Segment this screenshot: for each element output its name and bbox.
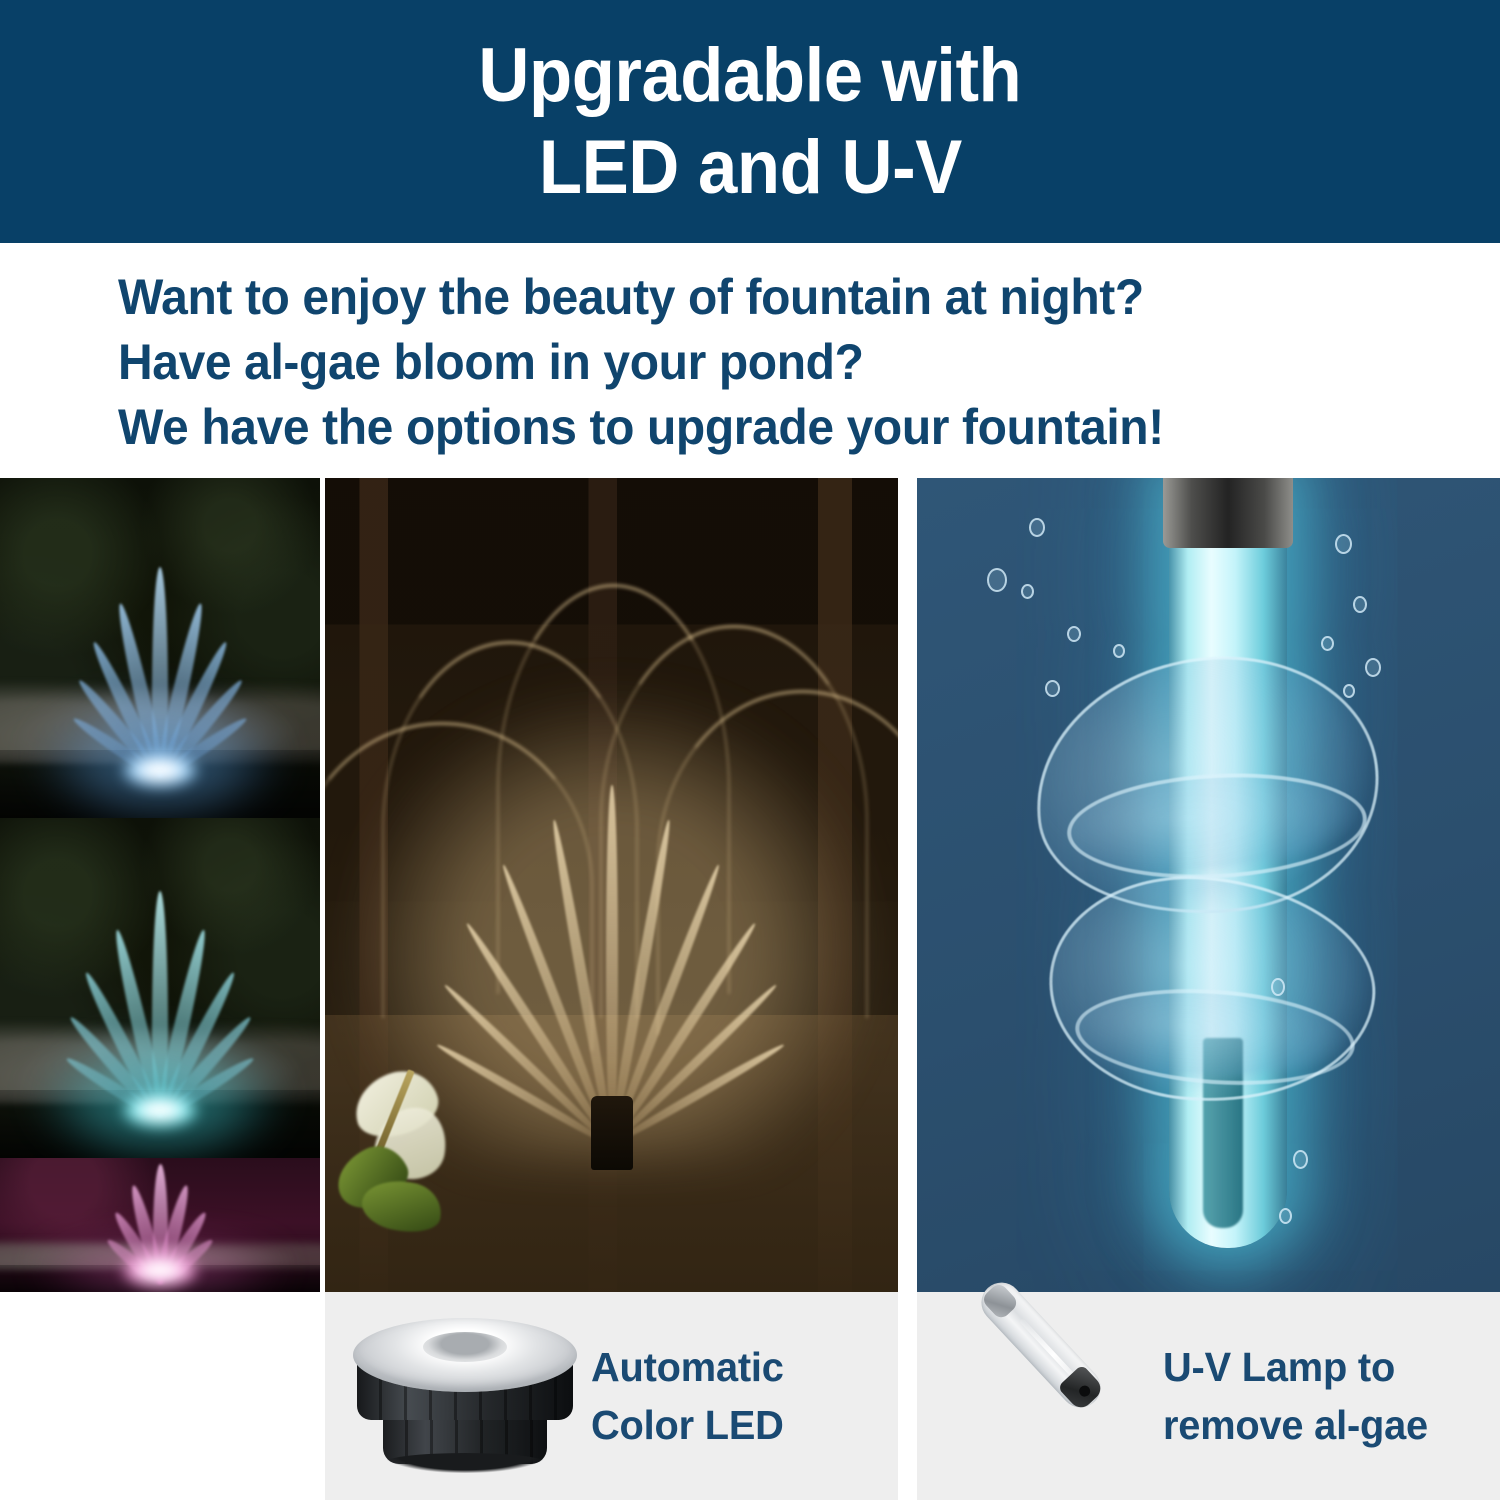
caption-text-led: Automatic Color LED (591, 1338, 784, 1454)
water-droplet (1365, 658, 1381, 677)
water-droplet (1321, 636, 1334, 651)
water-droplet (1293, 1150, 1308, 1169)
night-scene-blue (0, 478, 320, 818)
water-droplet (1067, 626, 1081, 642)
uv-tube-metal-cap (1163, 478, 1293, 548)
led-color-photo-column (0, 478, 320, 1292)
water-droplet (987, 568, 1007, 592)
subtitle-block: Want to enjoy the beauty of fountain at … (0, 243, 1500, 478)
caption-uv-lamp: U-V Lamp to remove al-gae (917, 1292, 1500, 1500)
caption-text-uv: U-V Lamp to remove al-gae (1163, 1338, 1428, 1454)
photo-warm-fountain (325, 478, 898, 1292)
photo-led-fountain-cyan (0, 818, 320, 1158)
subtitle-line-2: Have al-gae bloom in your pond? (118, 330, 1445, 395)
water-droplet (1021, 584, 1034, 599)
caption-automatic-color-led: Automatic Color LED (325, 1292, 898, 1500)
led-glow-pink (123, 1253, 197, 1287)
caption-row: Automatic Color LED U-V Lamp to remove a… (0, 1292, 1500, 1500)
led-center-ring (423, 1332, 507, 1362)
header-title-line-1: Upgradable with (479, 37, 1022, 115)
caption-uv-line-2: remove al-gae (1163, 1396, 1428, 1454)
water-droplet (1335, 534, 1352, 554)
water-droplet (1343, 684, 1355, 698)
caption-led-line-1: Automatic (591, 1338, 784, 1396)
water-droplet (1353, 596, 1367, 613)
photo-led-fountain-pink (0, 1158, 320, 1292)
caption-uv-line-1: U-V Lamp to (1163, 1338, 1428, 1396)
subtitle-line-3: We have the options to upgrade your foun… (118, 395, 1445, 460)
header-title-line-2: LED and U-V (539, 129, 962, 207)
led-puck-icon (325, 1312, 591, 1480)
water-droplet (1113, 644, 1125, 658)
night-scene-cyan (0, 818, 320, 1158)
night-scene-pink (0, 1158, 320, 1292)
caption-led-line-2: Color LED (591, 1396, 784, 1454)
uv-lamp-wand-icon (917, 1303, 1163, 1489)
photo-led-fountain-blue (0, 478, 320, 818)
fountain-nozzle (591, 1096, 633, 1170)
water-droplet (1271, 978, 1285, 996)
water-droplet (1279, 1208, 1292, 1224)
photo-uv-lamp (917, 478, 1500, 1292)
uv-wand-cap-dark (1057, 1364, 1105, 1412)
header-banner: Upgradable with LED and U-V (0, 0, 1500, 243)
subtitle-line-1: Want to enjoy the beauty of fountain at … (118, 265, 1445, 330)
uv-wand-body (973, 1274, 1109, 1415)
water-droplet (1045, 680, 1060, 697)
gallery-grid (0, 478, 1500, 1292)
infographic-page: Upgradable with LED and U-V Want to enjo… (0, 0, 1500, 1500)
white-flower (336, 1063, 466, 1243)
water-droplet (1029, 518, 1045, 537)
